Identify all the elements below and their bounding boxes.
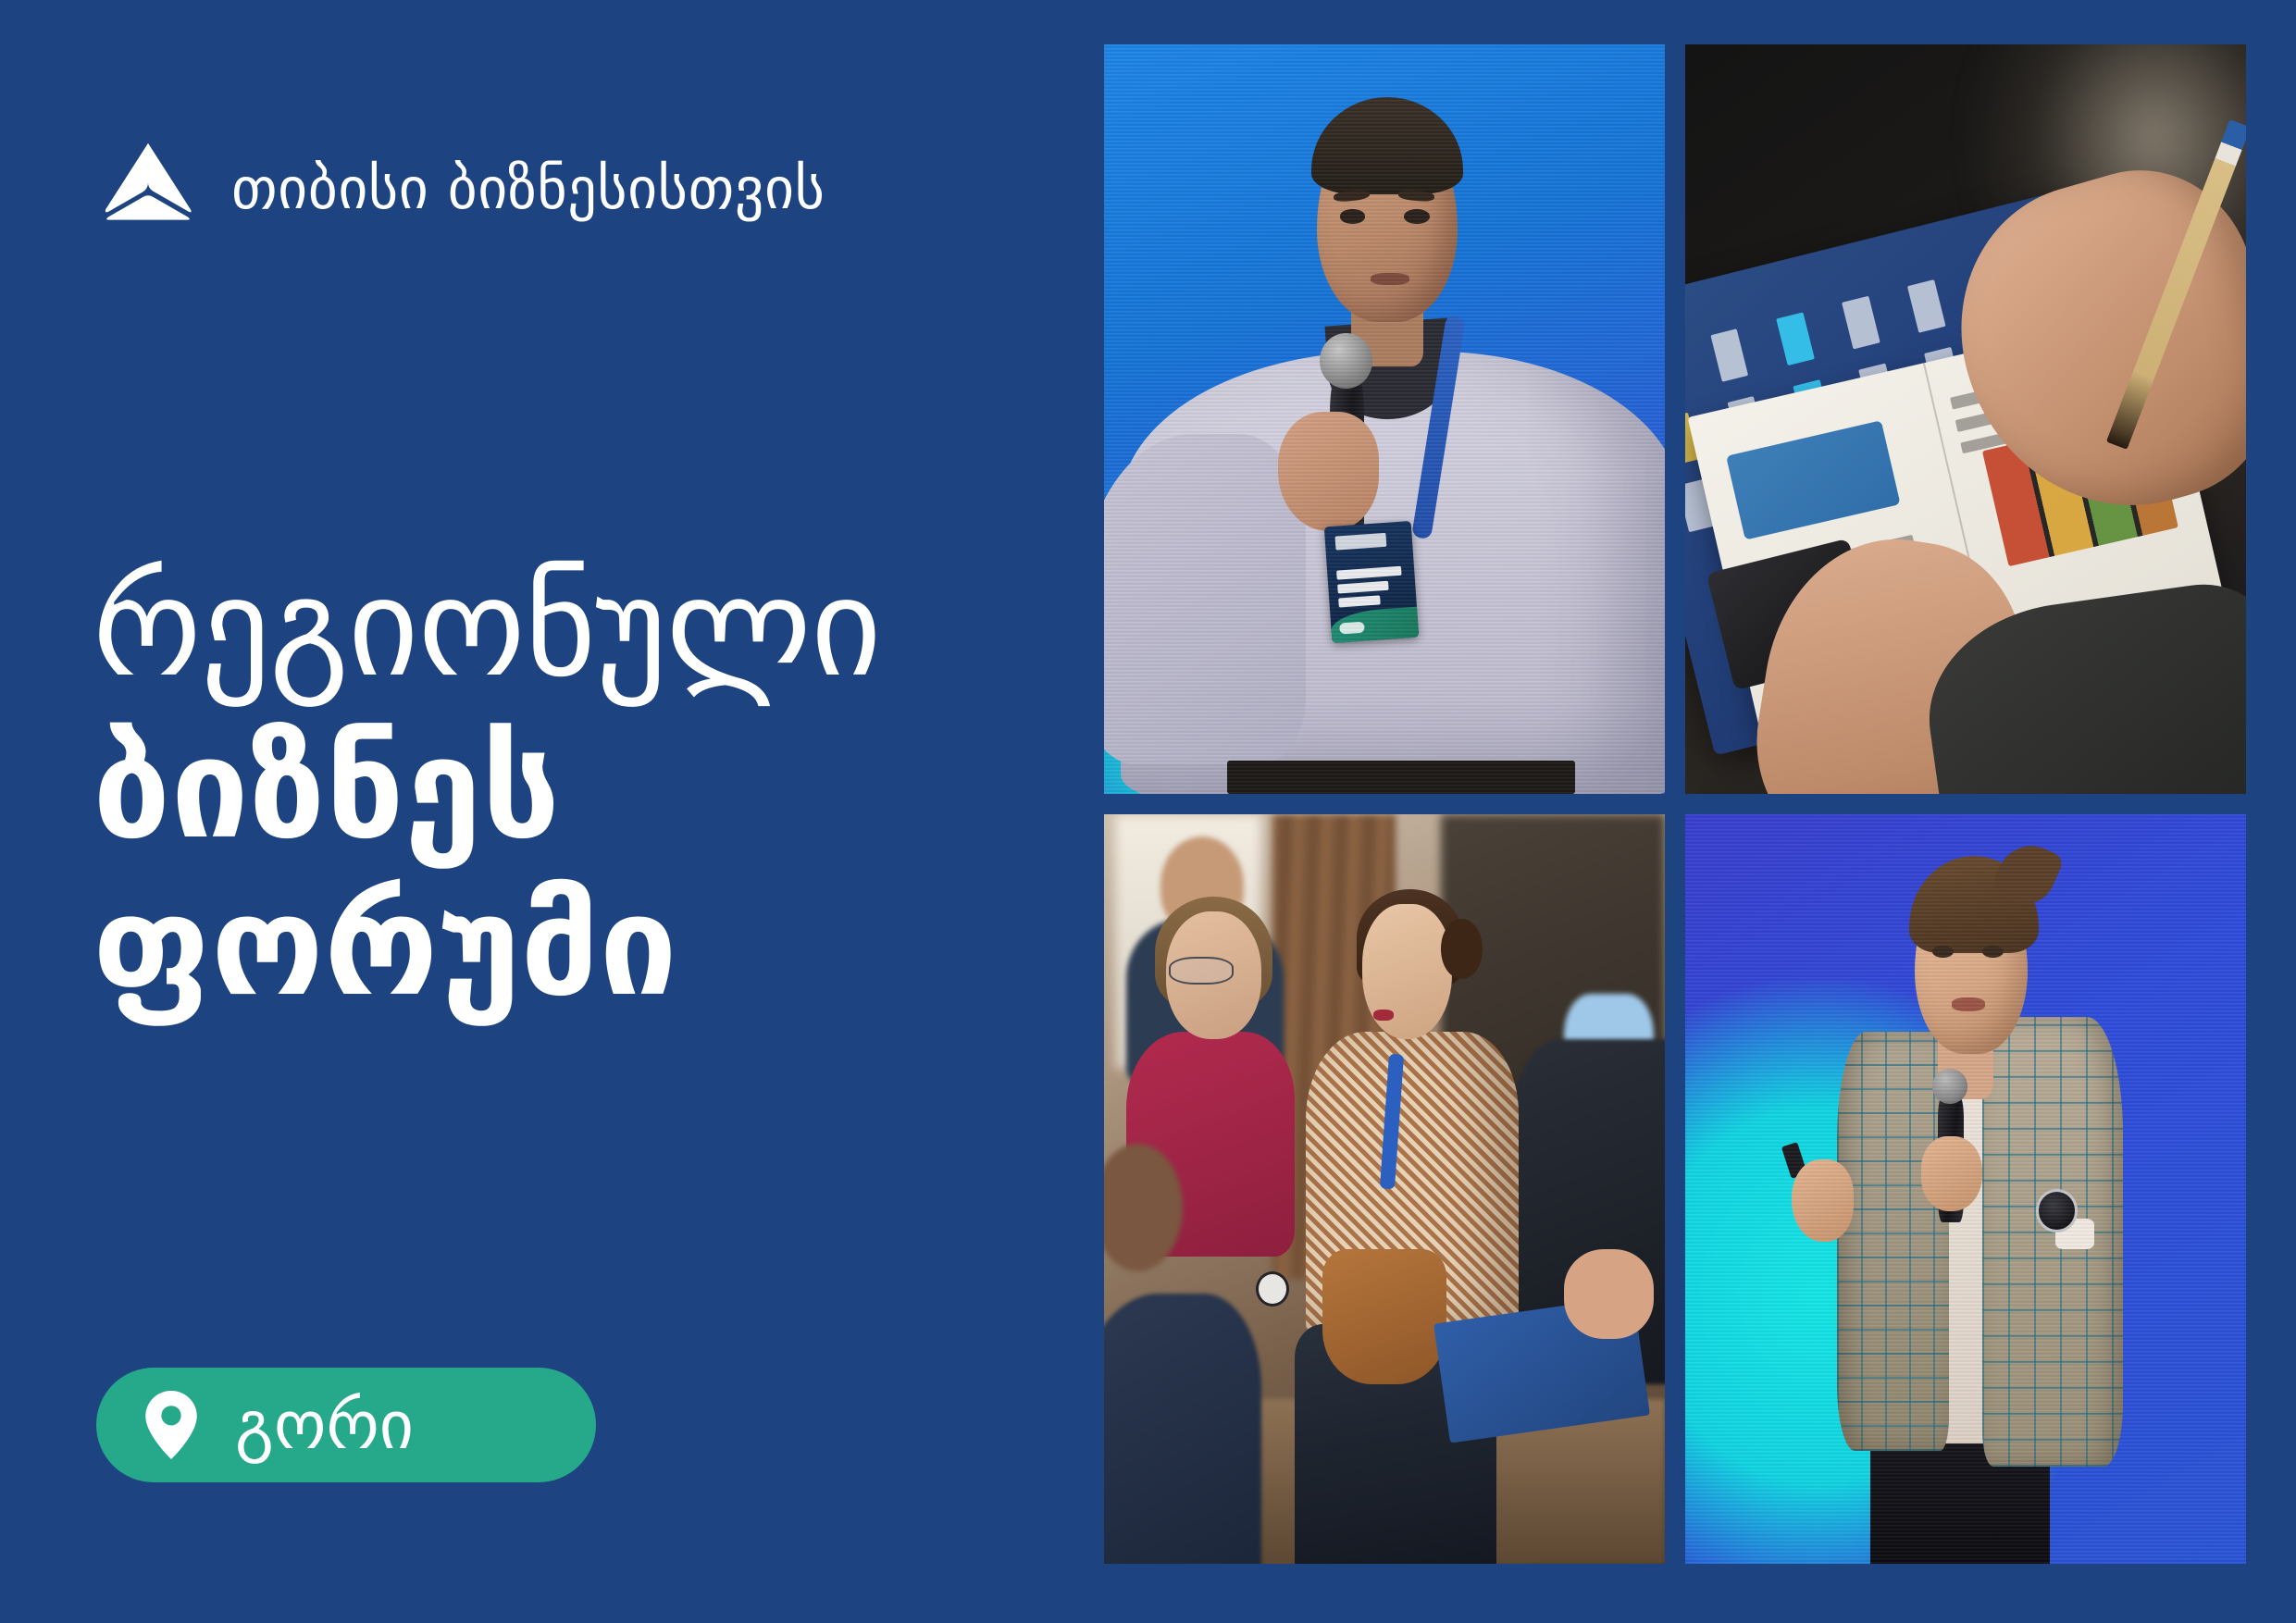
event-promo-banner: თიბისი ბიზნესისთვის რეგიონული ბიზნეს ფორ… [0, 0, 2296, 1623]
left-content-column: თიბისი ბიზნესისთვის რეგიონული ბიზნეს ფორ… [0, 0, 1074, 1623]
headline-line-2: ბიზნეს [93, 720, 1074, 877]
photo-brochure-hands [1685, 44, 2246, 794]
brand-name: თიბისი ბიზნესისთვის [231, 160, 825, 217]
headline-line-1: რეგიონული [93, 559, 1074, 720]
headline: რეგიონული ბიზნეს ფორუმი [93, 559, 1074, 1035]
photo-speaker-male [1104, 44, 1665, 794]
tbc-triangle-logo-icon [96, 137, 200, 241]
headline-line-3: ფორუმი [93, 877, 1074, 1035]
location-badge: გორი [96, 1368, 596, 1482]
map-pin-icon [144, 1391, 198, 1459]
photo-audience [1104, 814, 1665, 1564]
photo-grid [1104, 44, 2246, 1564]
brand-lockup: თიბისი ბიზნესისთვის [96, 137, 825, 241]
photo-speaker-female [1685, 814, 2246, 1564]
location-city-label: გორი [235, 1392, 414, 1458]
